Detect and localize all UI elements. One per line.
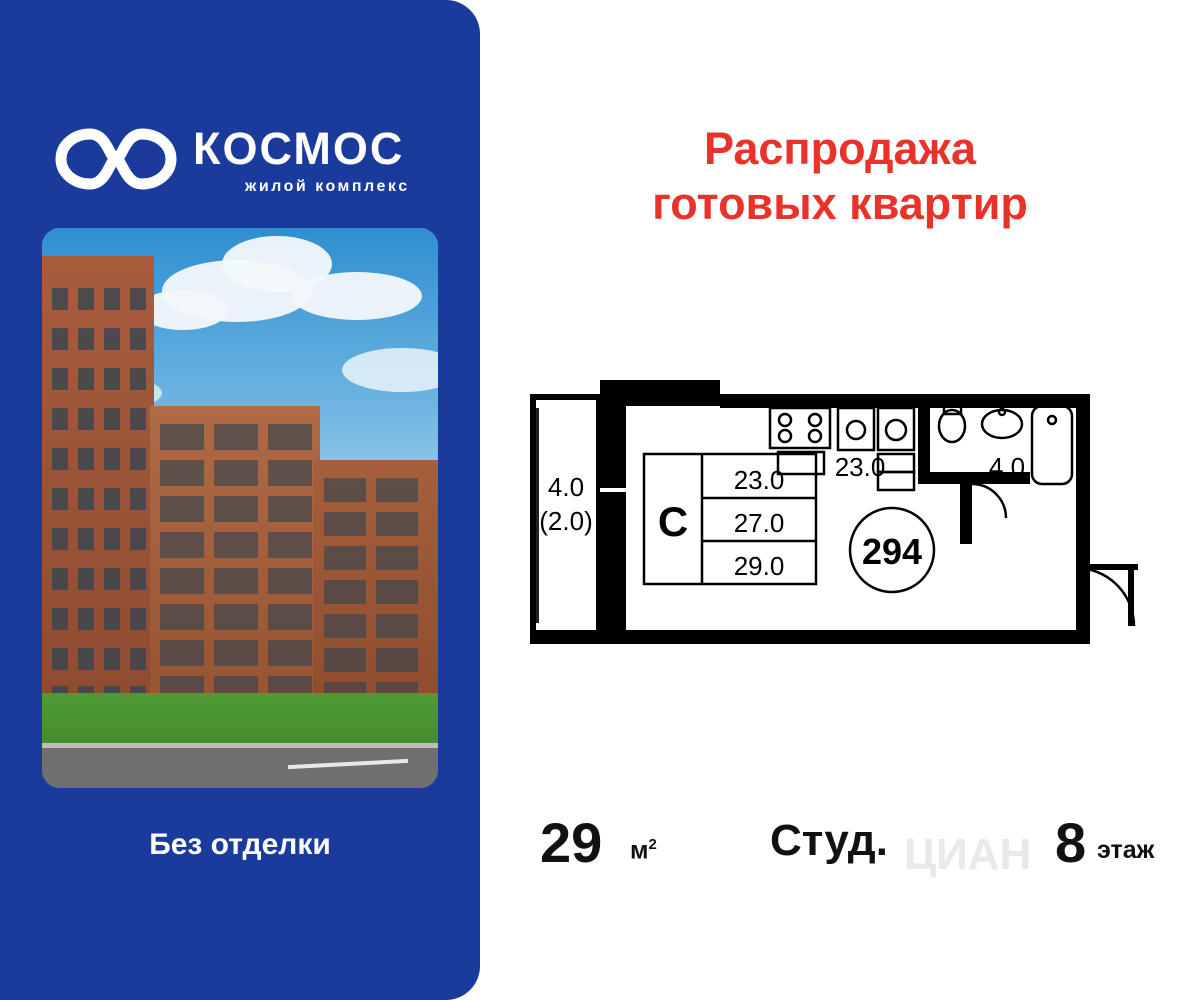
living-area: 23.0 bbox=[835, 452, 886, 482]
floor-label: этаж bbox=[1097, 836, 1154, 865]
road bbox=[42, 748, 438, 788]
floor-plan-svg: С 23.0 27.0 29.0 4.0 (2.0) 23.0 4.0 294 bbox=[520, 368, 1160, 678]
left-blue-panel: КОСМОС жилой комплекс bbox=[0, 0, 480, 1000]
headline-line-1: Распродажа bbox=[480, 122, 1200, 177]
bathtub-icon bbox=[1032, 406, 1072, 484]
brand-name: КОСМОС bbox=[193, 126, 404, 171]
sink-icon bbox=[838, 408, 874, 450]
area-value: 29 bbox=[540, 810, 602, 875]
area-unit: м2 bbox=[630, 836, 657, 865]
balcony-area: 4.0 bbox=[548, 472, 584, 502]
bathroom-area: 4.0 bbox=[989, 452, 1025, 482]
area-row-1: 23.0 bbox=[734, 465, 785, 495]
floor-value: 8 bbox=[1055, 810, 1086, 875]
finishing-caption: Без отделки bbox=[0, 828, 480, 862]
building-photo bbox=[42, 228, 438, 788]
listing-card: КОСМОС жилой комплекс bbox=[0, 0, 1200, 1000]
balcony-area-coef: (2.0) bbox=[539, 506, 592, 536]
rooms-value: Студ. bbox=[770, 816, 888, 866]
brand-subtitle: жилой комплекс bbox=[245, 178, 410, 196]
summary-row: 29 м2 Студ. 8 этаж bbox=[480, 810, 1200, 890]
right-white-panel: Распродажа готовых квартир bbox=[480, 0, 1200, 1000]
headline-line-2: готовых квартир bbox=[480, 177, 1200, 232]
stove-icon bbox=[770, 408, 830, 448]
brand-logo: КОСМОС жилой комплекс bbox=[55, 120, 435, 210]
area-row-2: 27.0 bbox=[734, 508, 785, 538]
room-type-letter: С bbox=[658, 498, 688, 545]
promo-headline: Распродажа готовых квартир bbox=[480, 122, 1200, 232]
area-row-3: 29.0 bbox=[734, 551, 785, 581]
watermark: ЦИАН bbox=[904, 830, 1031, 880]
apartment-number: 294 bbox=[862, 531, 922, 572]
infinity-loop-icon bbox=[55, 128, 177, 190]
door-swing-icon bbox=[972, 484, 1006, 518]
floor-plan: С 23.0 27.0 29.0 4.0 (2.0) 23.0 4.0 294 bbox=[520, 368, 1160, 678]
